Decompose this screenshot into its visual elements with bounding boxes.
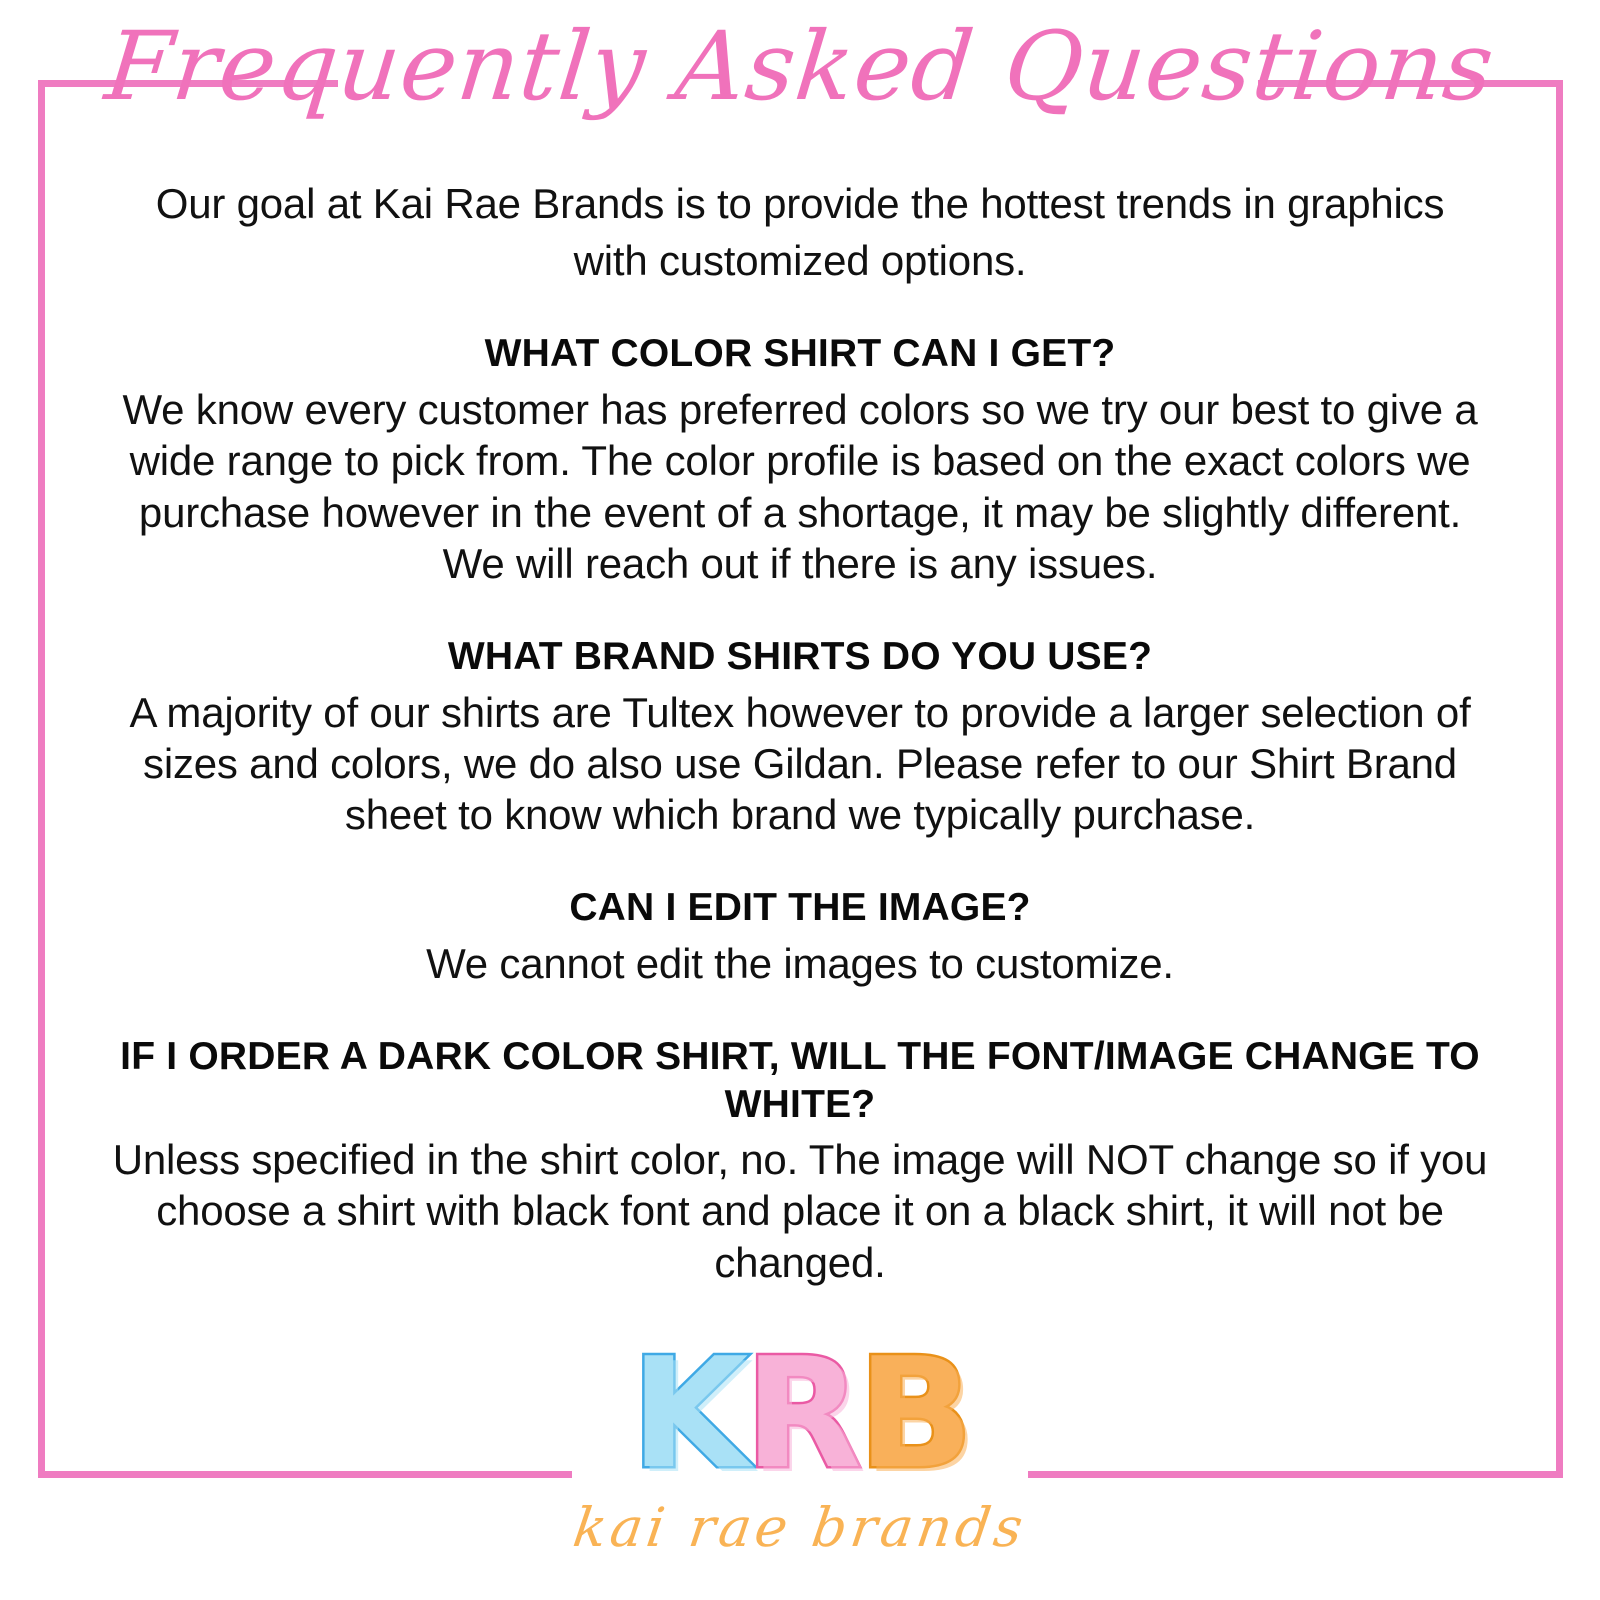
brand-logo: KRB kai rae brands xyxy=(0,1338,1600,1559)
faq-item-2: WHAT BRAND SHIRTS DO YOU USE? A majority… xyxy=(110,633,1490,840)
faq-item-3: CAN I EDIT THE IMAGE? We cannot edit the… xyxy=(110,884,1490,989)
faq-answer-2: A majority of our shirts are Tultex howe… xyxy=(110,687,1490,841)
faq-item-1: WHAT COLOR SHIRT CAN I GET? We know ever… xyxy=(110,330,1490,589)
logo-monogram: KRB xyxy=(631,1338,970,1490)
frame-right-border xyxy=(1556,80,1563,1478)
faq-question-2: WHAT BRAND SHIRTS DO YOU USE? xyxy=(110,633,1490,681)
logo-letter-b: B xyxy=(857,1338,969,1490)
faq-answer-1: We know every customer has preferred col… xyxy=(110,384,1490,589)
logo-wordmark: kai rae brands xyxy=(570,1496,1031,1559)
faq-page: Frequently Asked Questions Our goal at K… xyxy=(0,0,1600,1600)
faq-answer-4: Unless specified in the shirt color, no.… xyxy=(110,1134,1490,1288)
faq-question-4: IF I ORDER A DARK COLOR SHIRT, WILL THE … xyxy=(110,1033,1490,1128)
logo-letter-k: K xyxy=(631,1338,745,1490)
intro-line-1: Our goal at Kai Rae Brands is to provide… xyxy=(110,178,1490,229)
faq-content: Our goal at Kai Rae Brands is to provide… xyxy=(110,178,1490,1288)
faq-answer-3: We cannot edit the images to customize. xyxy=(110,938,1490,989)
intro-line-2: with customized options. xyxy=(110,235,1490,286)
faq-question-3: CAN I EDIT THE IMAGE? xyxy=(110,884,1490,932)
frame-left-border xyxy=(38,80,45,1478)
page-title: Frequently Asked Questions xyxy=(0,8,1600,127)
logo-letter-r: R xyxy=(744,1338,857,1490)
faq-question-1: WHAT COLOR SHIRT CAN I GET? xyxy=(110,330,1490,378)
faq-item-4: IF I ORDER A DARK COLOR SHIRT, WILL THE … xyxy=(110,1033,1490,1288)
